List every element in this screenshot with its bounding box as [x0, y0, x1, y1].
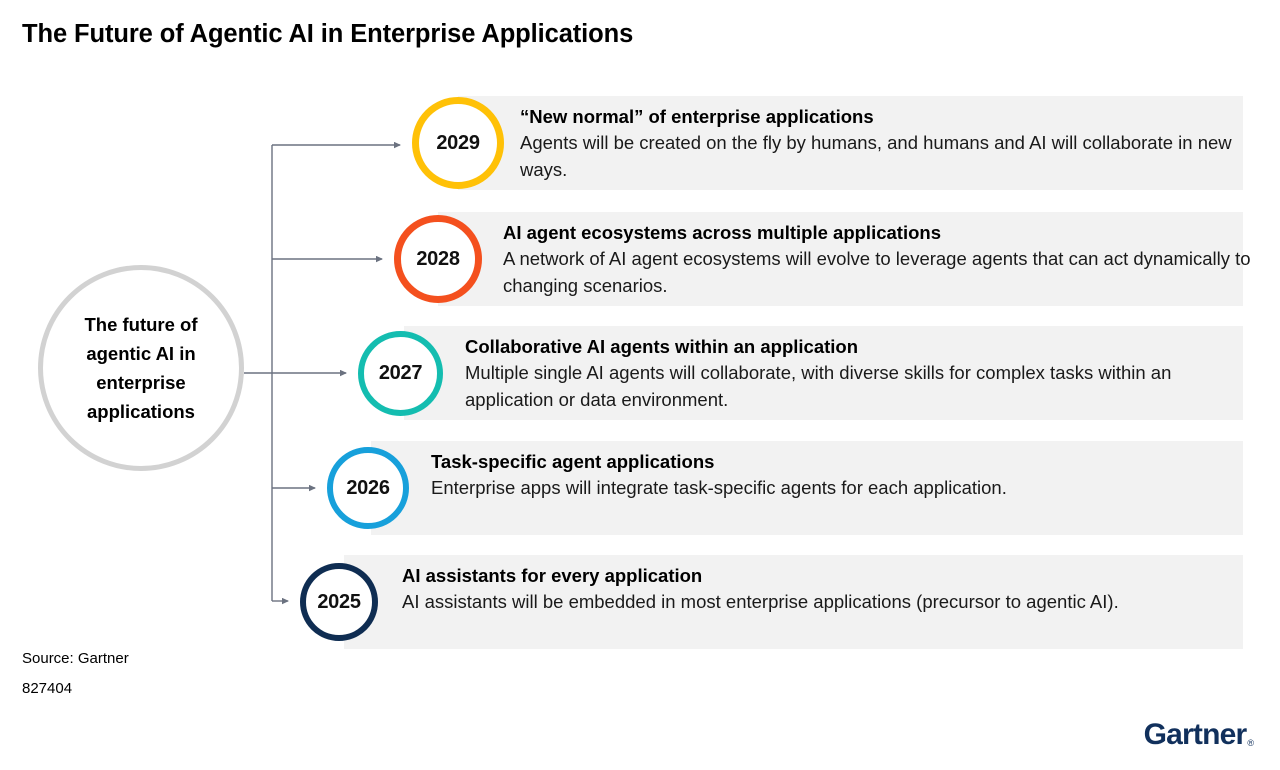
year-label: 2025: [317, 591, 360, 614]
timeline-text: AI assistants for every application AI a…: [402, 563, 1242, 615]
timeline-text: AI agent ecosystems across multiple appl…: [503, 220, 1253, 299]
timeline-body: AI assistants will be embedded in most e…: [402, 588, 1242, 615]
source-line: Source: Gartner: [22, 650, 129, 667]
timeline-body: A network of AI agent ecosystems will ev…: [503, 245, 1253, 299]
year-circle-2029[interactable]: 2029: [412, 97, 504, 189]
gartner-logo: Gartner ®: [1144, 718, 1254, 752]
year-label: 2027: [379, 362, 422, 385]
page-title: The Future of Agentic AI in Enterprise A…: [22, 20, 633, 49]
year-circle-2025[interactable]: 2025: [300, 563, 378, 641]
year-label: 2028: [416, 248, 459, 271]
timeline-text: Collaborative AI agents within an applic…: [465, 334, 1245, 413]
timeline-heading: “New normal” of enterprise applications: [520, 104, 1250, 129]
year-circle-2026[interactable]: 2026: [327, 447, 409, 529]
year-label: 2029: [436, 132, 479, 155]
year-label: 2026: [346, 477, 389, 500]
document-id: 827404: [22, 680, 72, 697]
year-circle-2028[interactable]: 2028: [394, 215, 482, 303]
hub-circle: The future of agentic AI in enterprise a…: [38, 265, 244, 471]
timeline-text: “New normal” of enterprise applications …: [520, 104, 1250, 183]
hub-label: The future of agentic AI in enterprise a…: [56, 310, 226, 426]
timeline-heading: Collaborative AI agents within an applic…: [465, 334, 1245, 359]
year-circle-2027[interactable]: 2027: [358, 331, 443, 416]
gartner-logo-text: Gartner: [1144, 718, 1247, 752]
timeline-text: Task-specific agent applications Enterpr…: [431, 449, 1241, 501]
timeline-heading: AI agent ecosystems across multiple appl…: [503, 220, 1253, 245]
registered-trademark-icon: ®: [1247, 738, 1254, 748]
timeline-heading: AI assistants for every application: [402, 563, 1242, 588]
timeline-body: Agents will be created on the fly by hum…: [520, 129, 1250, 183]
timeline-body: Multiple single AI agents will collabora…: [465, 359, 1245, 413]
timeline-heading: Task-specific agent applications: [431, 449, 1241, 474]
timeline-body: Enterprise apps will integrate task-spec…: [431, 474, 1241, 501]
